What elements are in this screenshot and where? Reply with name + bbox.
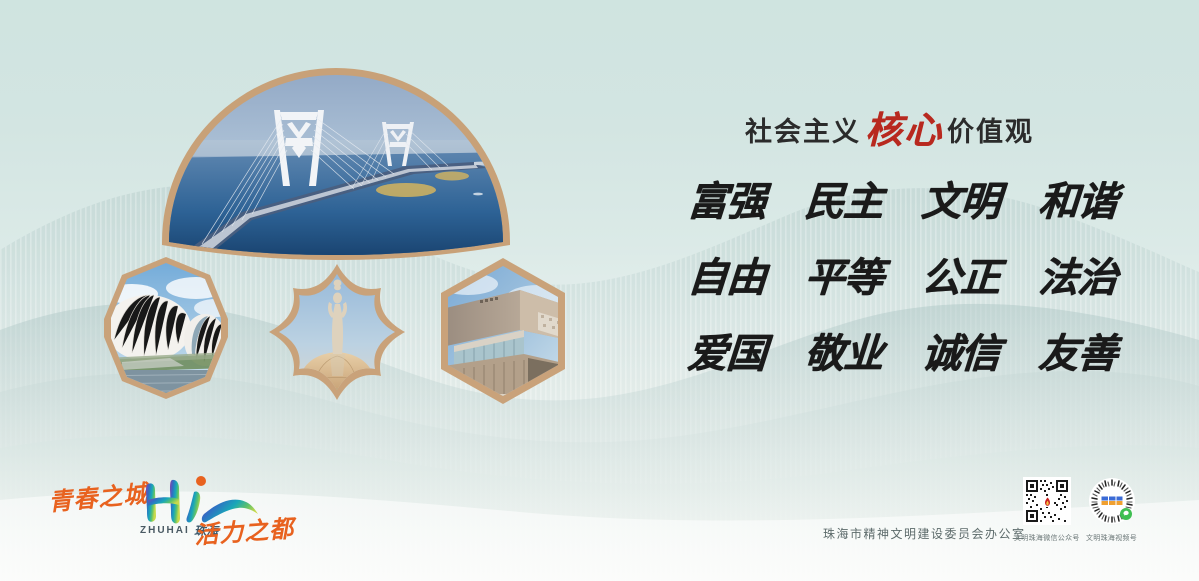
credit-organization: 珠海市精神文明建设委员会办公室 bbox=[823, 525, 1026, 542]
value-item: 敬业 bbox=[783, 328, 904, 380]
logo-pinyin: ZHUHAI bbox=[140, 525, 190, 536]
zhuhai-city-logo: 青春之城 ZHUHAI 珠海 活力之都 bbox=[42, 470, 312, 550]
qr-circular-icon[interactable] bbox=[1088, 477, 1136, 525]
photo-hong-kong-zhuhai-macau-bridge bbox=[156, 62, 516, 262]
value-item: 和谐 bbox=[1017, 176, 1138, 228]
qr-code-wechat-official[interactable]: 文明珠海微信公众号 bbox=[1014, 477, 1080, 543]
qr-code-wechat-channels[interactable]: 文明珠海视频号 bbox=[1086, 477, 1137, 543]
poster-canvas: 社会主义 核心 价值观 富强 民主 文明 和谐 自由 平等 公正 法治 爱国 敬… bbox=[0, 0, 1199, 581]
value-item: 平等 bbox=[783, 252, 904, 304]
title-prefix: 社会主义 bbox=[745, 110, 861, 149]
core-values-grid: 富强 民主 文明 和谐 自由 平等 公正 法治 爱国 敬业 诚信 友善 bbox=[668, 176, 1136, 380]
qr-caption: 文明珠海视频号 bbox=[1086, 533, 1137, 543]
value-item: 民主 bbox=[783, 176, 904, 228]
qr-square-icon[interactable] bbox=[1023, 477, 1071, 525]
qr-caption: 文明珠海微信公众号 bbox=[1014, 533, 1080, 543]
photo-zhuhai-museum bbox=[428, 254, 578, 408]
value-item: 爱国 bbox=[666, 328, 787, 380]
value-item: 富强 bbox=[666, 176, 787, 228]
value-item: 友善 bbox=[1017, 328, 1138, 380]
title-suffix: 价值观 bbox=[947, 110, 1034, 149]
value-item: 公正 bbox=[900, 252, 1021, 304]
photo-zhuhai-opera-house bbox=[92, 254, 240, 402]
page-title: 社会主义 核心 价值观 bbox=[745, 98, 1034, 152]
value-item: 法治 bbox=[1017, 252, 1138, 304]
value-item: 文明 bbox=[900, 176, 1021, 228]
fan-frame bbox=[156, 62, 516, 262]
photo-fisher-girl-statue bbox=[258, 258, 416, 416]
logo-right-text: 活力之都 bbox=[193, 509, 295, 551]
value-item: 自由 bbox=[666, 252, 787, 304]
logo-left-text: 青春之城 bbox=[47, 474, 150, 518]
title-accent: 核心 bbox=[861, 100, 947, 154]
value-item: 诚信 bbox=[900, 328, 1021, 380]
